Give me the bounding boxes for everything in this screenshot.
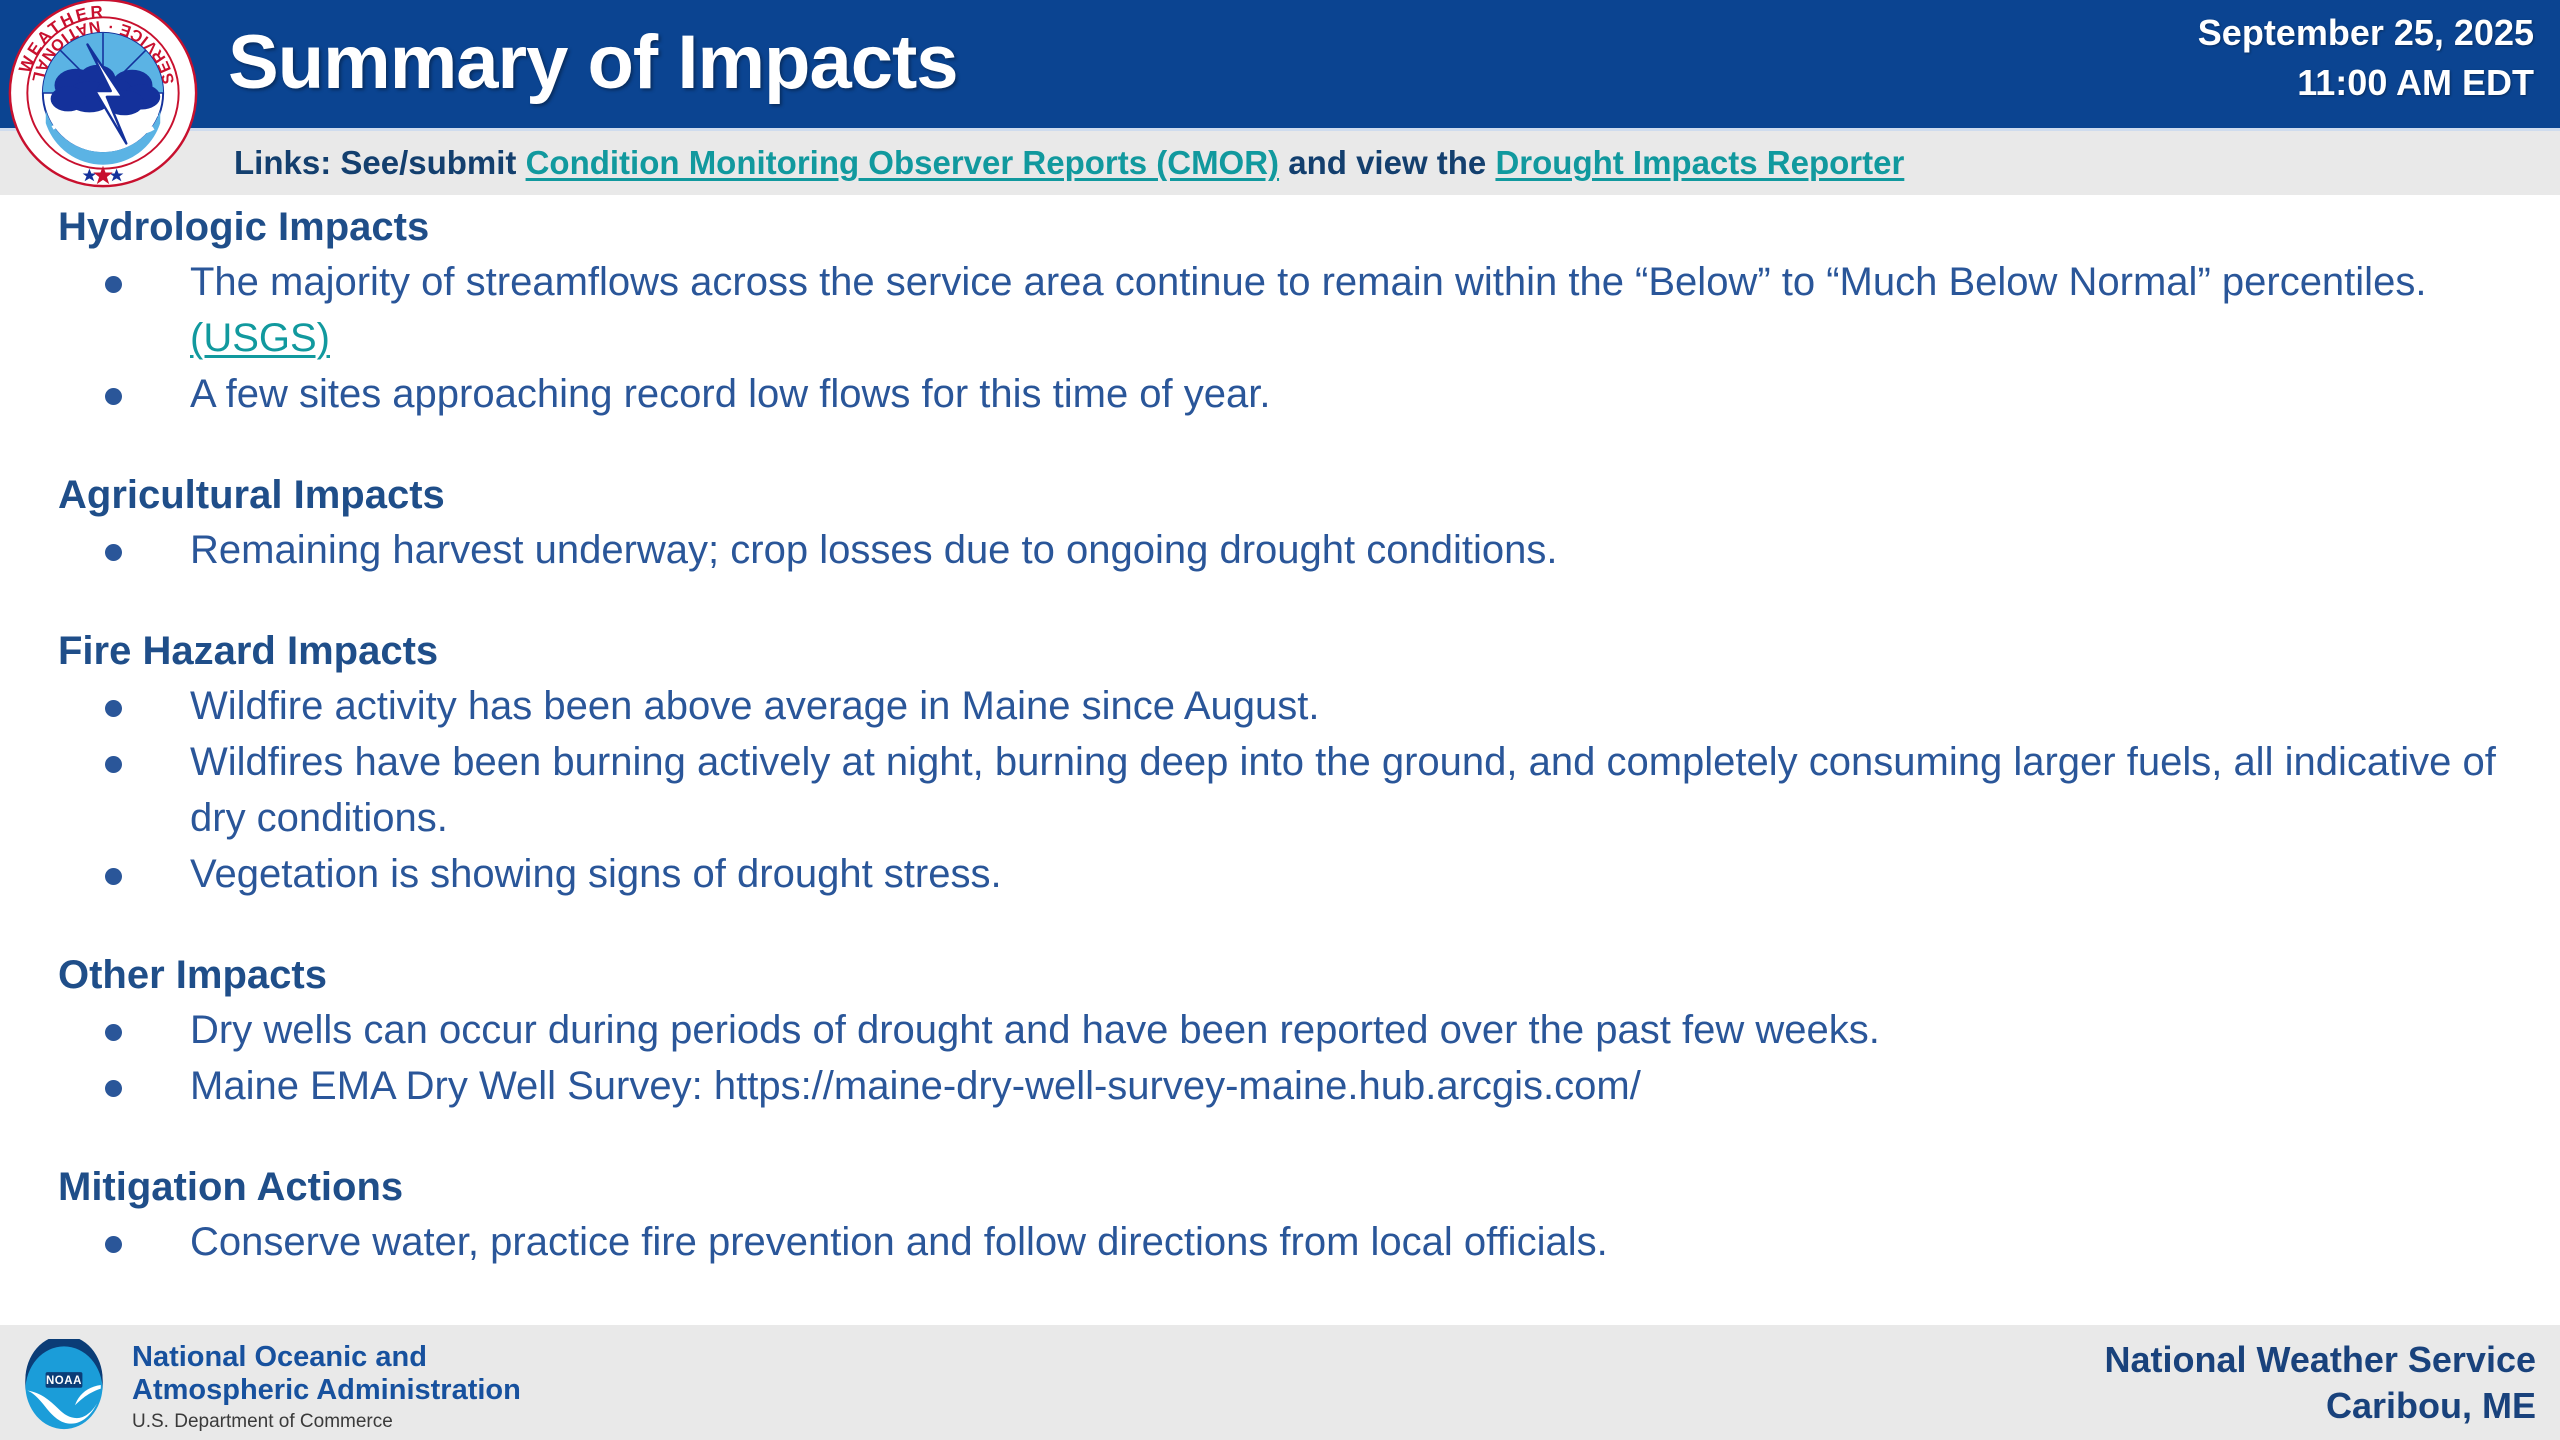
- section-agricultural-impacts: Agricultural Impacts Remaining harvest u…: [0, 468, 2560, 578]
- section-spacer: [0, 422, 2560, 468]
- page-title: Summary of Impacts: [228, 8, 958, 118]
- noaa-logo-text: NOAA: [46, 1375, 82, 1387]
- section-heading: Fire Hazard Impacts: [58, 624, 2560, 678]
- bullet-text: Conserve water, practice fire prevention…: [190, 1220, 1608, 1264]
- section-heading: Hydrologic Impacts: [58, 200, 2560, 254]
- noaa-agency-text: National Oceanic and Atmospheric Adminis…: [132, 1341, 521, 1437]
- list-item: Remaining harvest underway; crop losses …: [190, 522, 2560, 578]
- section-other-impacts: Other Impacts Dry wells can occur during…: [0, 948, 2560, 1114]
- list-item: Dry wells can occur during periods of dr…: [190, 1002, 2560, 1058]
- list-item: Vegetation is showing signs of drought s…: [190, 846, 2560, 902]
- links-middle: and view the: [1279, 144, 1495, 181]
- impacts-content: Hydrologic Impacts The majority of strea…: [0, 200, 2560, 1320]
- section-heading: Other Impacts: [58, 948, 2560, 1002]
- section-spacer: [0, 1114, 2560, 1160]
- list-item: Conserve water, practice fire prevention…: [190, 1214, 2560, 1270]
- links-bar: Links: See/submit Condition Monitoring O…: [0, 128, 2560, 195]
- office-location: Caribou, ME: [2104, 1383, 2536, 1429]
- noaa-seal-icon: NOAA: [18, 1339, 110, 1431]
- office-name: National Weather Service: [2104, 1337, 2536, 1383]
- list-item: Wildfire activity has been above average…: [190, 678, 2560, 734]
- section-fire-hazard-impacts: Fire Hazard Impacts Wildfire activity ha…: [0, 624, 2560, 902]
- bullet-list: Wildfire activity has been above average…: [0, 678, 2560, 902]
- header-datetime: September 25, 2025 11:00 AM EDT: [2198, 8, 2534, 108]
- header-time: 11:00 AM EDT: [2198, 58, 2534, 108]
- section-hydrologic-impacts: Hydrologic Impacts The majority of strea…: [0, 200, 2560, 422]
- cmor-link[interactable]: Condition Monitoring Observer Reports (C…: [526, 144, 1279, 181]
- usgs-link[interactable]: (USGS): [190, 316, 330, 360]
- bullet-text: Vegetation is showing signs of drought s…: [190, 852, 1002, 896]
- noaa-department: U.S. Department of Commerce: [132, 1407, 521, 1437]
- list-item: The majority of streamflows across the s…: [190, 254, 2560, 366]
- list-item: Wildfires have been burning actively at …: [190, 734, 2560, 846]
- bullet-list: The majority of streamflows across the s…: [0, 254, 2560, 422]
- bullet-list: Dry wells can occur during periods of dr…: [0, 1002, 2560, 1114]
- drought-impacts-reporter-link[interactable]: Drought Impacts Reporter: [1495, 144, 1904, 181]
- nws-seal-icon: WEATHER SERVICE · NATIONAL: [6, 0, 200, 190]
- header-date: September 25, 2025: [2198, 8, 2534, 58]
- bullet-text: Maine EMA Dry Well Survey: https://maine…: [190, 1064, 1641, 1108]
- section-heading: Agricultural Impacts: [58, 468, 2560, 522]
- page-footer: NOAA National Oceanic and Atmospheric Ad…: [0, 1325, 2560, 1440]
- bullet-text: Wildfires have been burning actively at …: [190, 740, 2496, 840]
- list-item: A few sites approaching record low flows…: [190, 366, 2560, 422]
- bullet-text: A few sites approaching record low flows…: [190, 372, 1271, 416]
- links-text: Links: See/submit Condition Monitoring O…: [234, 139, 1904, 187]
- noaa-line-1: National Oceanic and: [132, 1341, 521, 1374]
- page-header: Summary of Impacts September 25, 2025 11…: [0, 0, 2560, 128]
- bullet-list: Conserve water, practice fire prevention…: [0, 1214, 2560, 1270]
- bullet-text: Dry wells can occur during periods of dr…: [190, 1008, 1880, 1052]
- bullet-text: Wildfire activity has been above average…: [190, 684, 1320, 728]
- bullet-text: The majority of streamflows across the s…: [190, 260, 2426, 304]
- section-spacer: [0, 902, 2560, 948]
- section-mitigation-actions: Mitigation Actions Conserve water, pract…: [0, 1160, 2560, 1270]
- office-identifier: National Weather Service Caribou, ME: [2104, 1337, 2536, 1429]
- bullet-text: Remaining harvest underway; crop losses …: [190, 528, 1558, 572]
- section-heading: Mitigation Actions: [58, 1160, 2560, 1214]
- section-spacer: [0, 578, 2560, 624]
- bullet-list: Remaining harvest underway; crop losses …: [0, 522, 2560, 578]
- links-prefix: Links: See/submit: [234, 144, 526, 181]
- list-item: Maine EMA Dry Well Survey: https://maine…: [190, 1058, 2560, 1114]
- noaa-line-2: Atmospheric Administration: [132, 1374, 521, 1407]
